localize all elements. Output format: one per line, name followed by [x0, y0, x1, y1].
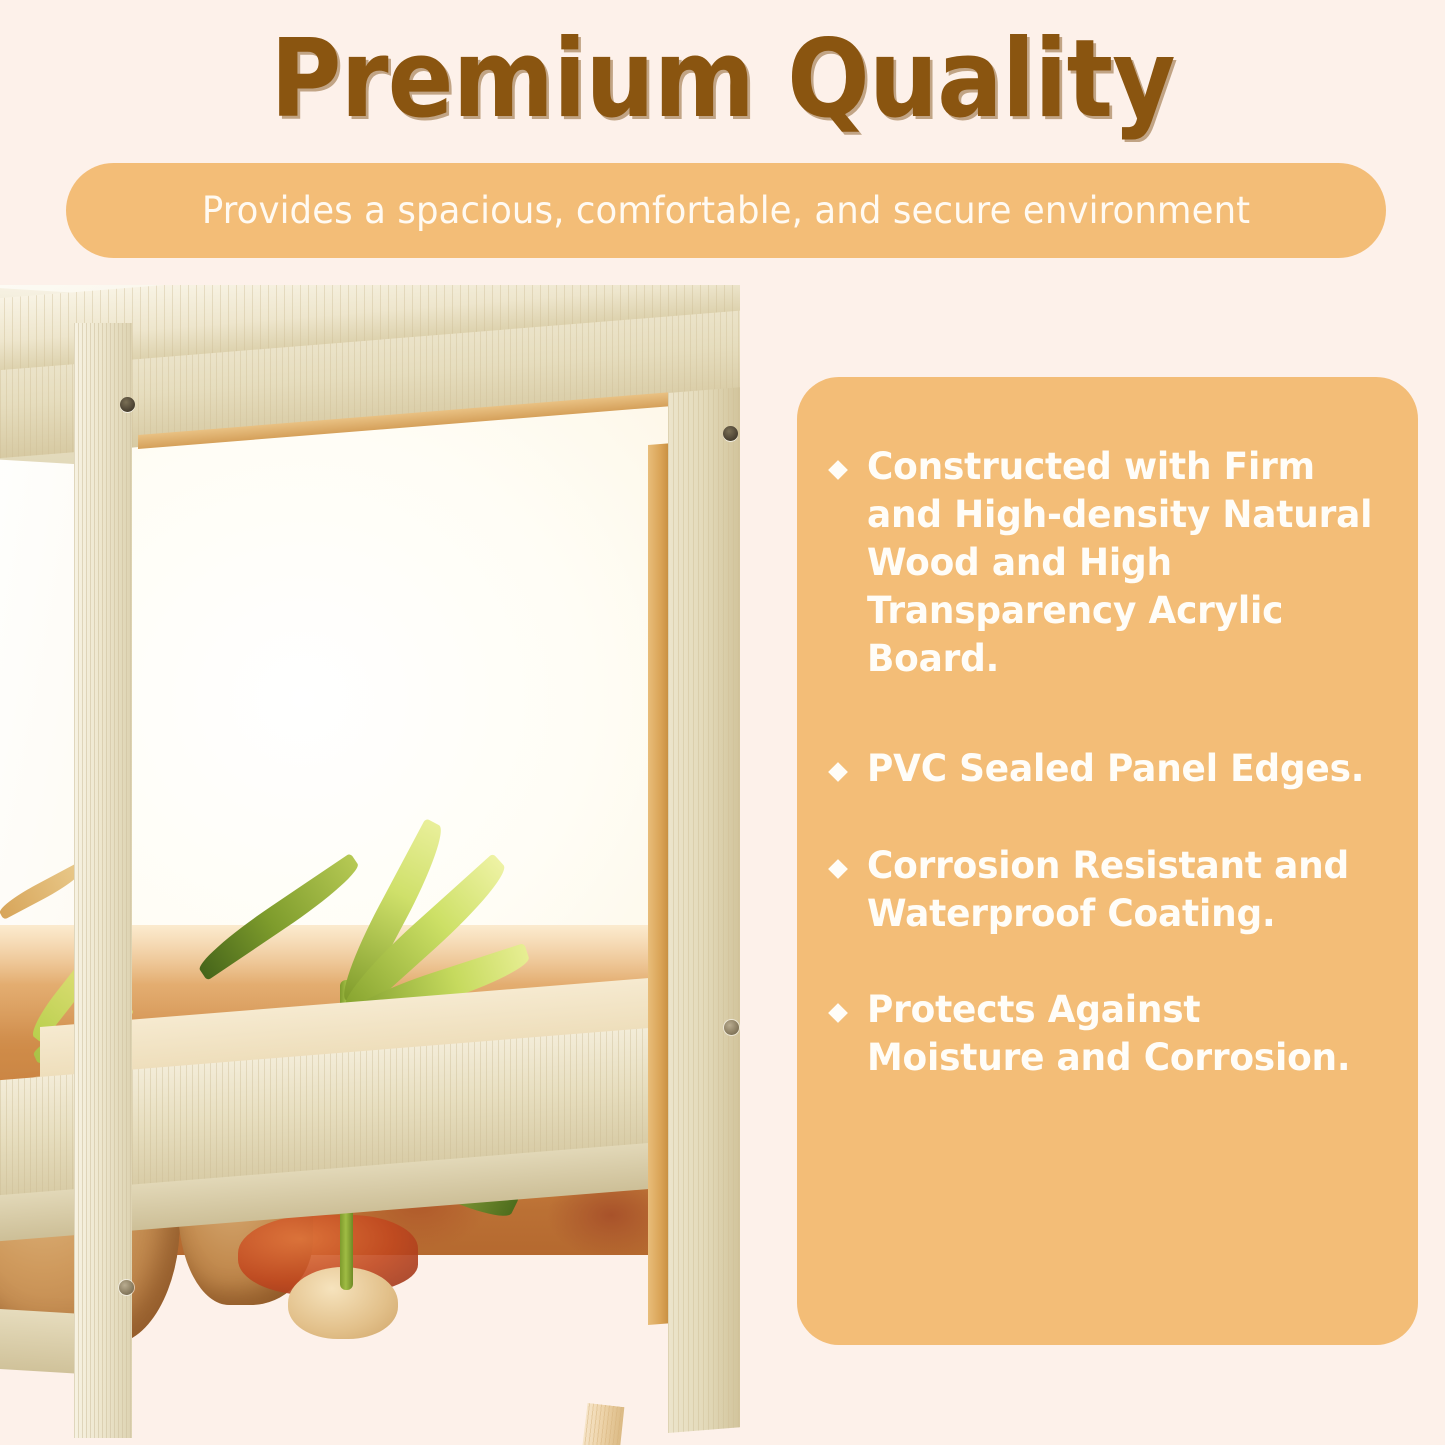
- feature-bullet-text: PVC Sealed Panel Edges.: [867, 745, 1372, 793]
- diamond-bullet-icon: [828, 460, 848, 480]
- spacer: [831, 938, 1388, 986]
- product-infographic: Premium Quality Provides a spacious, com…: [0, 0, 1445, 1445]
- screw-hole-top-right: [723, 426, 738, 441]
- subtitle-text: Provides a spacious, comfortable, and se…: [202, 189, 1250, 232]
- feature-bullet: Protects Against Moisture and Corrosion.: [831, 986, 1388, 1082]
- feature-bullet-text: Constructed with Firm and High-density N…: [867, 443, 1372, 683]
- screw-bottom-right: [724, 1020, 739, 1035]
- wood-corner-post: [74, 323, 132, 1438]
- spacer: [831, 683, 1388, 745]
- feature-bullet-text: Corrosion Resistant and Waterproof Coati…: [867, 842, 1372, 938]
- diamond-bullet-icon: [828, 763, 848, 783]
- page-title: Premium Quality: [72, 26, 1373, 134]
- leg-right: [548, 1403, 627, 1445]
- diamond-bullet-icon: [828, 859, 848, 879]
- feature-bullet: Constructed with Firm and High-density N…: [831, 443, 1388, 683]
- spacer: [831, 794, 1388, 842]
- opening-bevel-right: [648, 443, 670, 1325]
- screw-hole-top-left: [120, 397, 135, 412]
- screw-bottom-left: [119, 1280, 134, 1295]
- wood-stile-right: [668, 387, 740, 1433]
- product-photo: [0, 285, 800, 1445]
- subtitle-banner: Provides a spacious, comfortable, and se…: [66, 163, 1386, 258]
- feature-bullet: Corrosion Resistant and Waterproof Coati…: [831, 842, 1388, 938]
- feature-bullet-text: Protects Against Moisture and Corrosion.: [867, 986, 1372, 1082]
- diamond-bullet-icon: [828, 1003, 848, 1023]
- feature-bullet: PVC Sealed Panel Edges.: [831, 745, 1388, 793]
- features-panel: Constructed with Firm and High-density N…: [797, 377, 1418, 1345]
